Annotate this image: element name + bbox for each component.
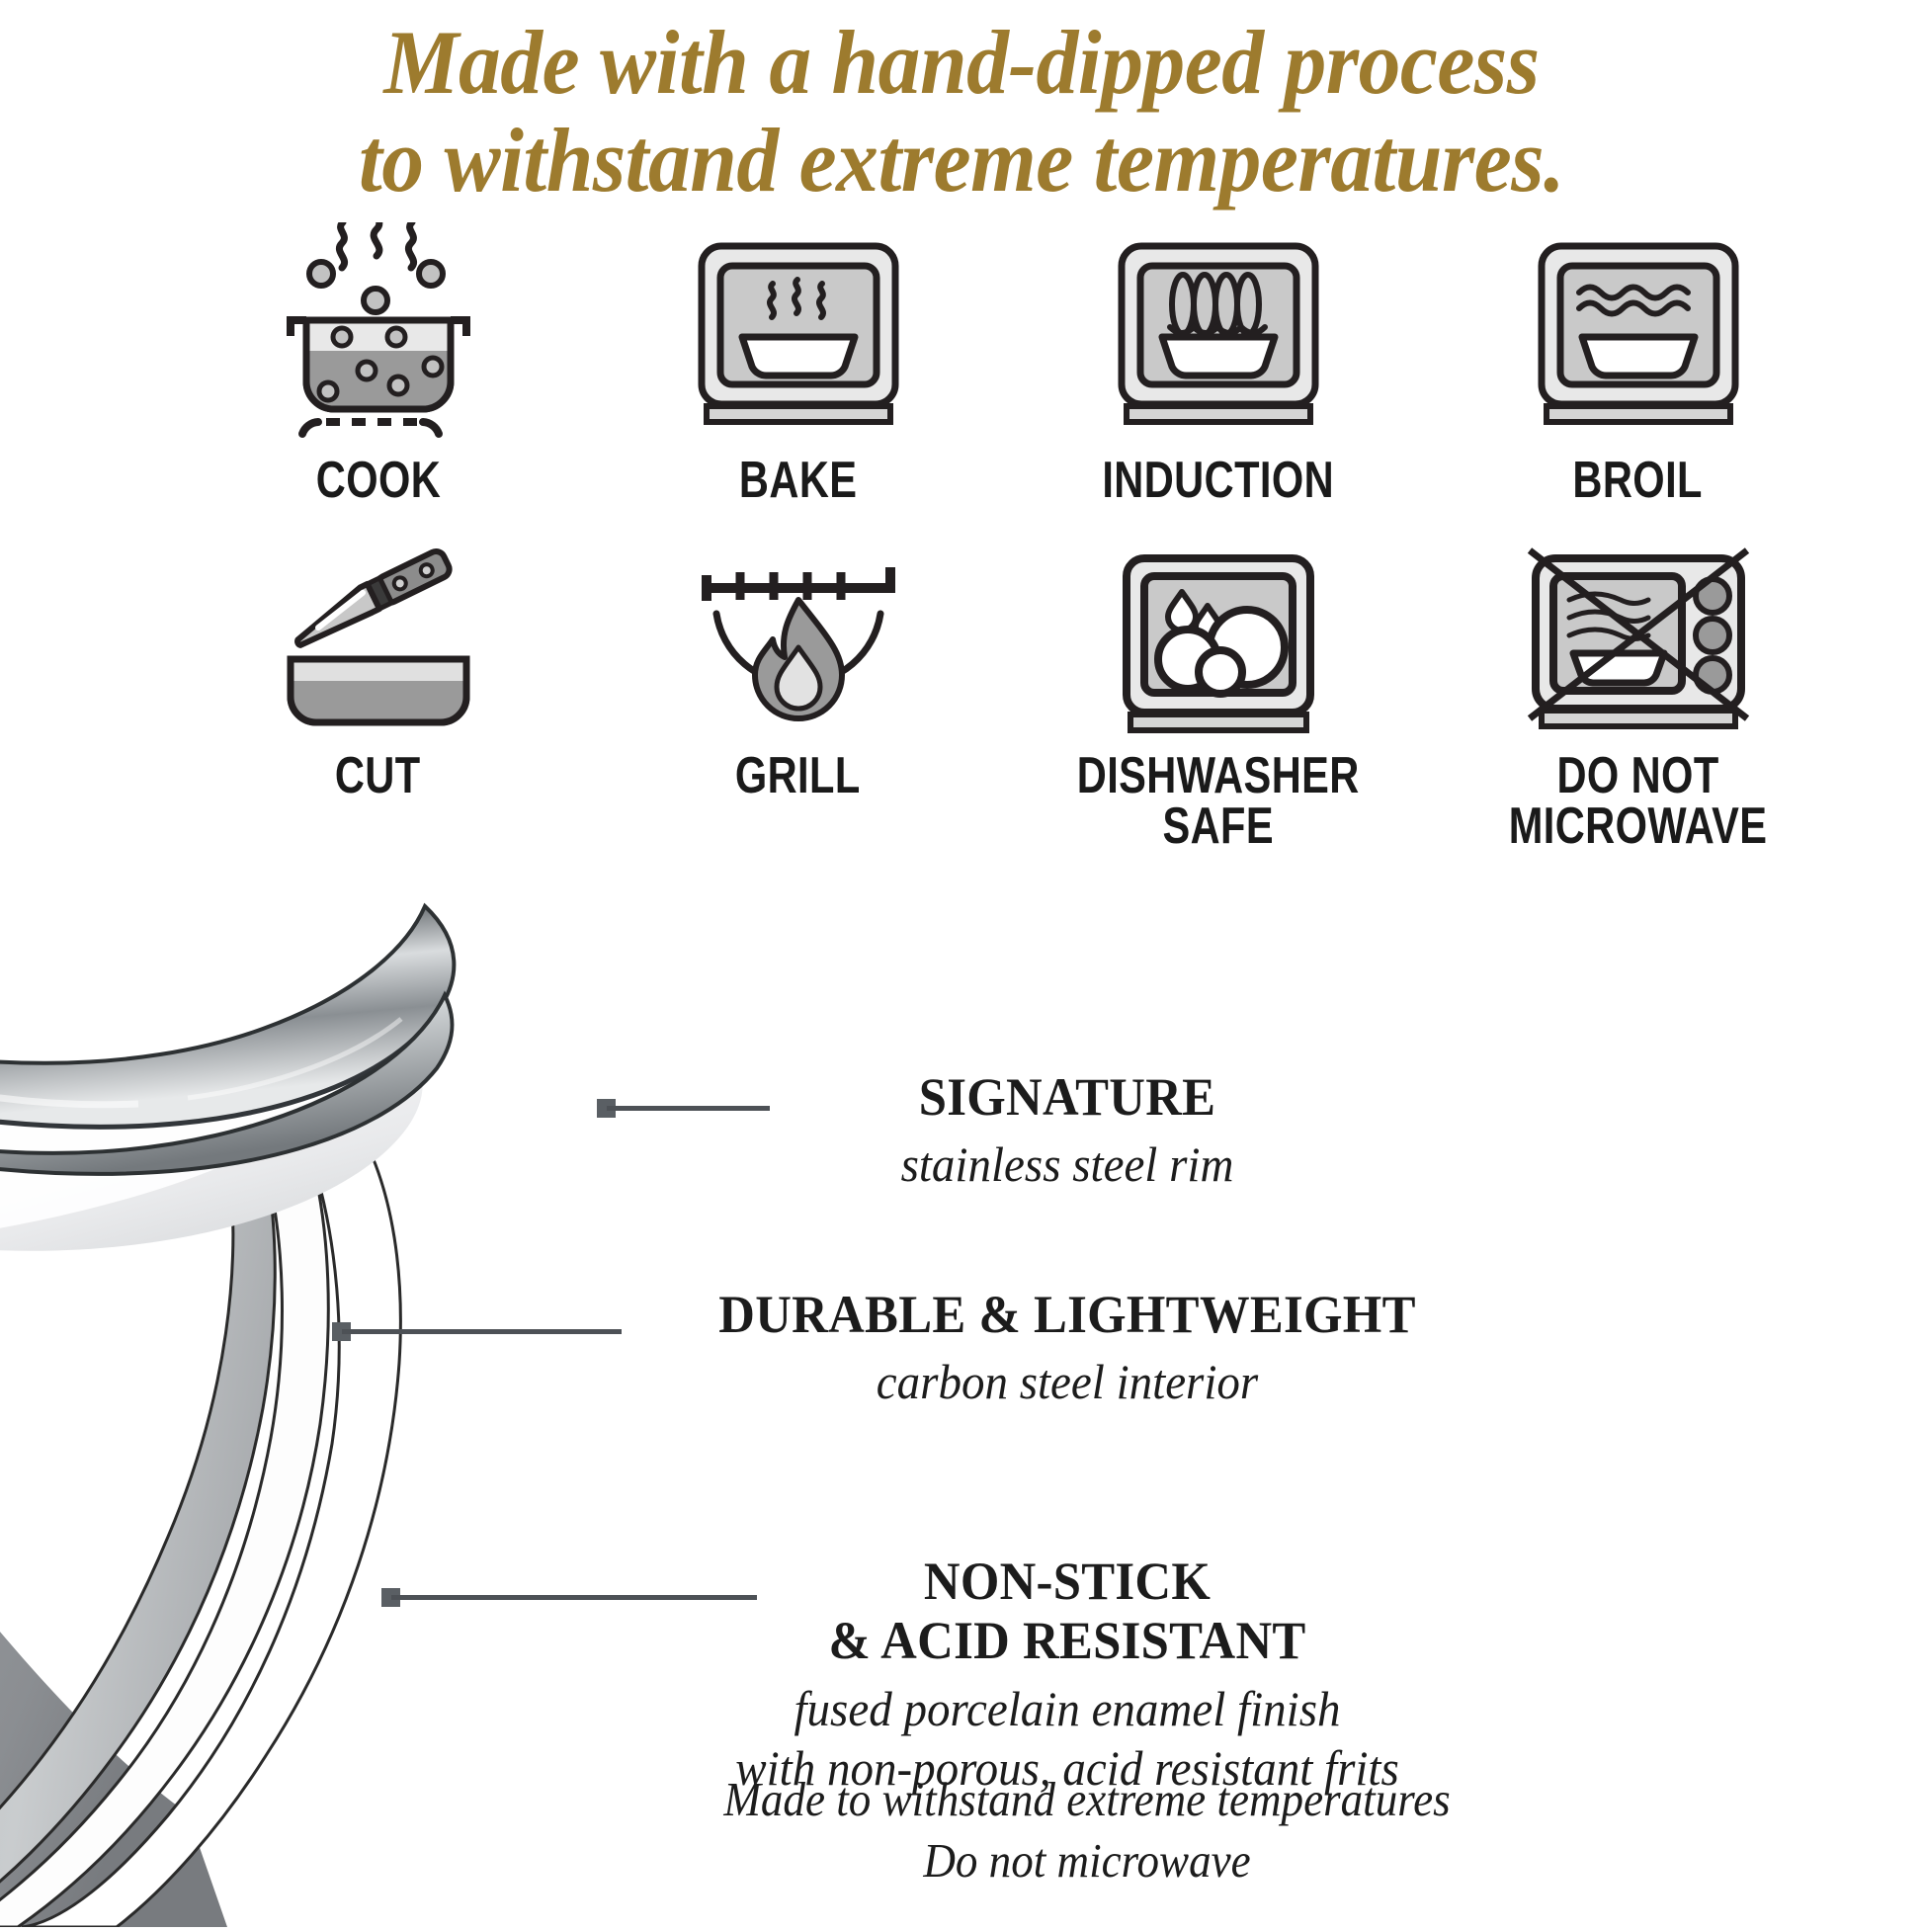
callout-subtitle-signature: stainless steel rim (622, 1134, 1513, 1194)
icon-label-do-not-microwave: DO NOT MICROWAVE (1509, 751, 1768, 851)
callout-title-durable: DURABLE & LIGHTWEIGHT (622, 1285, 1513, 1344)
oven-bake-icon (685, 222, 912, 450)
icon-cell-cut: CUT (168, 545, 588, 851)
icon-cell-grill: GRILL (588, 545, 1008, 851)
callout-subtitle-durable: carbon steel interior (622, 1352, 1513, 1411)
grill-flame-icon (685, 545, 912, 747)
icon-label-induction: INDUCTION (1102, 456, 1334, 505)
callout-non-stick: NON-STICK & ACID RESISTANT fused porcela… (593, 1552, 1542, 1798)
icon-label-broil: BROIL (1573, 456, 1703, 505)
footnote-text: Made to withstand extreme temperatures D… (669, 1769, 1505, 1890)
icon-label-dishwasher-safe: DISHWASHER SAFE (1076, 751, 1359, 851)
callout-durable-lightweight: DURABLE & LIGHTWEIGHT carbon steel inter… (593, 1285, 1542, 1411)
icon-label-bake: BAKE (739, 456, 857, 505)
feature-icon-grid: COOK BA (168, 222, 1848, 851)
icon-cell-induction: INDUCTION (1008, 222, 1428, 505)
microwave-crossed-out-icon (1520, 545, 1757, 747)
icon-cell-dishwasher: DISHWASHER SAFE (1008, 545, 1428, 851)
icon-row-primary: COOK BA (168, 222, 1848, 505)
knife-pan-icon (265, 545, 492, 747)
icon-row-secondary: CUT (168, 545, 1848, 851)
dishwasher-icon (1105, 545, 1332, 747)
icon-cell-cook: COOK (168, 222, 588, 505)
callout-line-2 (342, 1329, 622, 1334)
callout-title-non-stick: NON-STICK & ACID RESISTANT (622, 1552, 1513, 1671)
callout-signature: SIGNATURE stainless steel rim (593, 1067, 1542, 1194)
icon-label-cook: COOK (315, 456, 440, 505)
icon-cell-broil: BROIL (1428, 222, 1848, 505)
icon-cell-bake: BAKE (588, 222, 1008, 505)
infographic-root: Made with a hand-dipped process to withs… (0, 0, 1923, 1923)
oven-broil-icon (1525, 222, 1752, 450)
page-title: Made with a hand-dipped process to withs… (67, 14, 1856, 210)
oven-induction-icon (1105, 222, 1332, 450)
headline-line-1: Made with a hand-dipped process (67, 14, 1856, 112)
icon-label-grill: GRILL (735, 751, 861, 800)
pot-steam-icon (265, 222, 492, 450)
icon-cell-do-not-microwave: DO NOT MICROWAVE (1428, 545, 1848, 851)
icon-label-cut: CUT (335, 751, 421, 800)
callout-title-signature: SIGNATURE (622, 1067, 1513, 1127)
headline-line-2: to withstand extreme temperatures. (67, 112, 1856, 210)
